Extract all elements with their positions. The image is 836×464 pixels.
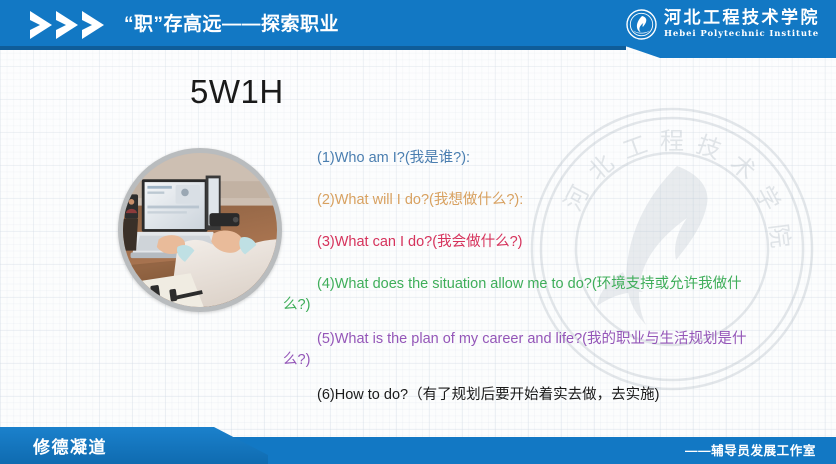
list-item: (2)What will I do?(我想做什么?): [283, 190, 753, 211]
slide-canvas: 河 北 工 程 技 术 学 院 H e b e i P o l y t [0, 0, 836, 464]
list-item: (1)Who am I?(我是谁?): [283, 148, 753, 169]
illustration-photo [118, 148, 282, 312]
institution-brand-lockup: 河北工程技术学院 Hebei Polytechnic Institute [626, 9, 820, 40]
list-item: (6)How to do?（有了规划后要开始着实去做，去实施) [283, 385, 753, 406]
list-item: (4)What does the situation allow me to d… [283, 274, 753, 316]
school-crest-icon [626, 9, 657, 40]
header-title: “职”存高远——探索职业 [124, 10, 339, 39]
header-accent-underline [0, 46, 626, 50]
list-item: (5)What is the plan of my career and lif… [283, 329, 753, 371]
bullet-list: (1)Who am I?(我是谁?): (2)What will I do?(我… [283, 148, 753, 406]
double-chevron-right-icon [28, 9, 114, 41]
page-title: 5W1H [190, 72, 284, 112]
footer-credit: ——辅导员发展工作室 [685, 440, 816, 459]
slide-header: “职”存高远——探索职业 河北工程技术学院 Hebei Polytechnic … [0, 0, 836, 58]
brand-name-en: Hebei Polytechnic Institute [664, 30, 820, 39]
brand-text: 河北工程技术学院 Hebei Polytechnic Institute [664, 10, 820, 39]
brand-name-cn: 河北工程技术学院 [664, 10, 820, 27]
footer-slogan: 修德凝道 [33, 433, 107, 458]
person-working-at-laptop-photo [123, 153, 277, 307]
list-item: (3)What can I do?(我会做什么?) [283, 232, 753, 253]
slide-footer: 修德凝道 ——辅导员发展工作室 [0, 427, 836, 464]
